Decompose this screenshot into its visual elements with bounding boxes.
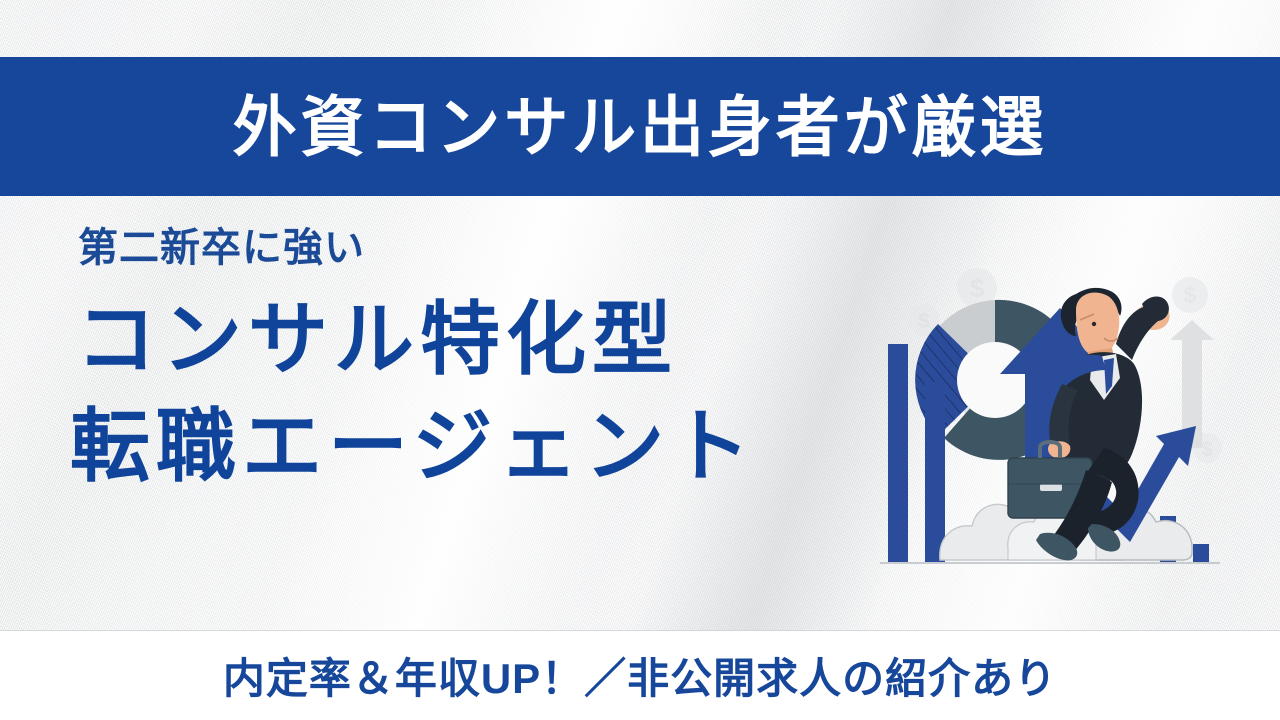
svg-text:$: $ xyxy=(1201,439,1212,461)
eyebrow-text: 第二新卒に強い xyxy=(78,226,890,270)
svg-text:$: $ xyxy=(1184,282,1197,308)
footer-strip: 内定率＆年収UP！／非公開求人の紹介あり xyxy=(0,631,1280,720)
banner-title: 外資コンサル出身者が厳選 xyxy=(233,94,1048,160)
header-banner: 外資コンサル出身者が厳選 xyxy=(0,57,1280,196)
svg-text:$: $ xyxy=(970,273,985,303)
hero-illustration: $ $ $ $ xyxy=(880,248,1280,588)
promo-banner-canvas: $ $ $ $ xyxy=(0,0,1280,720)
headline-line-1: コンサル特化型 xyxy=(76,286,890,393)
footer-tagline: 内定率＆年収UP！／非公開求人の紹介あり xyxy=(223,645,1057,706)
svg-text:$: $ xyxy=(918,310,930,333)
headline-block: 第二新卒に強い コンサル特化型 転職エージェント xyxy=(70,226,890,500)
headline-line-2: 転職エージェント xyxy=(70,393,890,500)
